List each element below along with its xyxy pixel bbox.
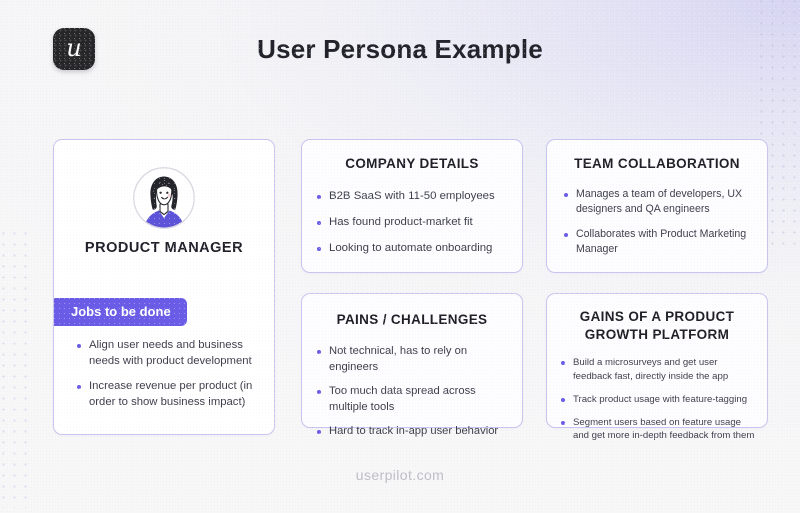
list-item: Manages a team of developers, UX designe…: [563, 187, 754, 216]
card-title: PAINS / CHALLENGES: [302, 311, 522, 329]
pains-challenges-card: PAINS / CHALLENGES Not technical, has to…: [301, 293, 523, 428]
footer-website: userpilot.com: [0, 467, 800, 483]
card-title: GAINS OF A PRODUCT GROWTH PLATFORM: [547, 308, 767, 344]
list-item: Build a microsurveys and get user feedba…: [560, 356, 757, 382]
gains-growth-platform-card: GAINS OF A PRODUCT GROWTH PLATFORM Build…: [546, 293, 768, 428]
persona-avatar-illustration: [132, 166, 196, 230]
team-collaboration-list: Manages a team of developers, UX designe…: [563, 187, 754, 256]
gains-growth-platform-list: Build a microsurveys and get user feedba…: [560, 356, 757, 442]
list-item: Segment users based on feature usage and…: [560, 416, 757, 442]
card-title: COMPANY DETAILS: [302, 155, 522, 173]
list-item: Align user needs and business needs with…: [76, 338, 260, 369]
card-title: TEAM COLLABORATION: [547, 155, 767, 173]
list-item: B2B SaaS with 11-50 employees: [316, 189, 508, 205]
page-title: User Persona Example: [0, 34, 800, 65]
jobs-to-be-done-badge: Jobs to be done: [54, 298, 187, 326]
list-item: Too much data spread across multiple too…: [316, 384, 512, 415]
list-item: Not technical, has to rely on engineers: [316, 344, 512, 375]
persona-card: PRODUCT MANAGER Jobs to be done Align us…: [53, 139, 275, 435]
team-collaboration-card: TEAM COLLABORATION Manages a team of dev…: [546, 139, 768, 273]
company-details-list: B2B SaaS with 11-50 employees Has found …: [316, 189, 508, 256]
list-item: Track product usage with feature-tagging: [560, 393, 757, 406]
list-item: Collaborates with Product Marketing Mana…: [563, 227, 754, 256]
list-item: Looking to automate onboarding: [316, 241, 508, 257]
list-item: Increase revenue per product (in order t…: [76, 379, 260, 410]
company-details-card: COMPANY DETAILS B2B SaaS with 11-50 empl…: [301, 139, 523, 273]
list-item: Has found product-market fit: [316, 215, 508, 231]
jobs-to-be-done-list: Align user needs and business needs with…: [76, 338, 260, 420]
persona-role-title: PRODUCT MANAGER: [54, 240, 274, 256]
poster-canvas: u User Persona Example: [0, 0, 800, 513]
dot-pattern-left-decoration: [0, 228, 32, 508]
list-item: Hard to track in-app user behavior: [316, 424, 512, 439]
pains-challenges-list: Not technical, has to rely on engineers …: [316, 344, 512, 439]
